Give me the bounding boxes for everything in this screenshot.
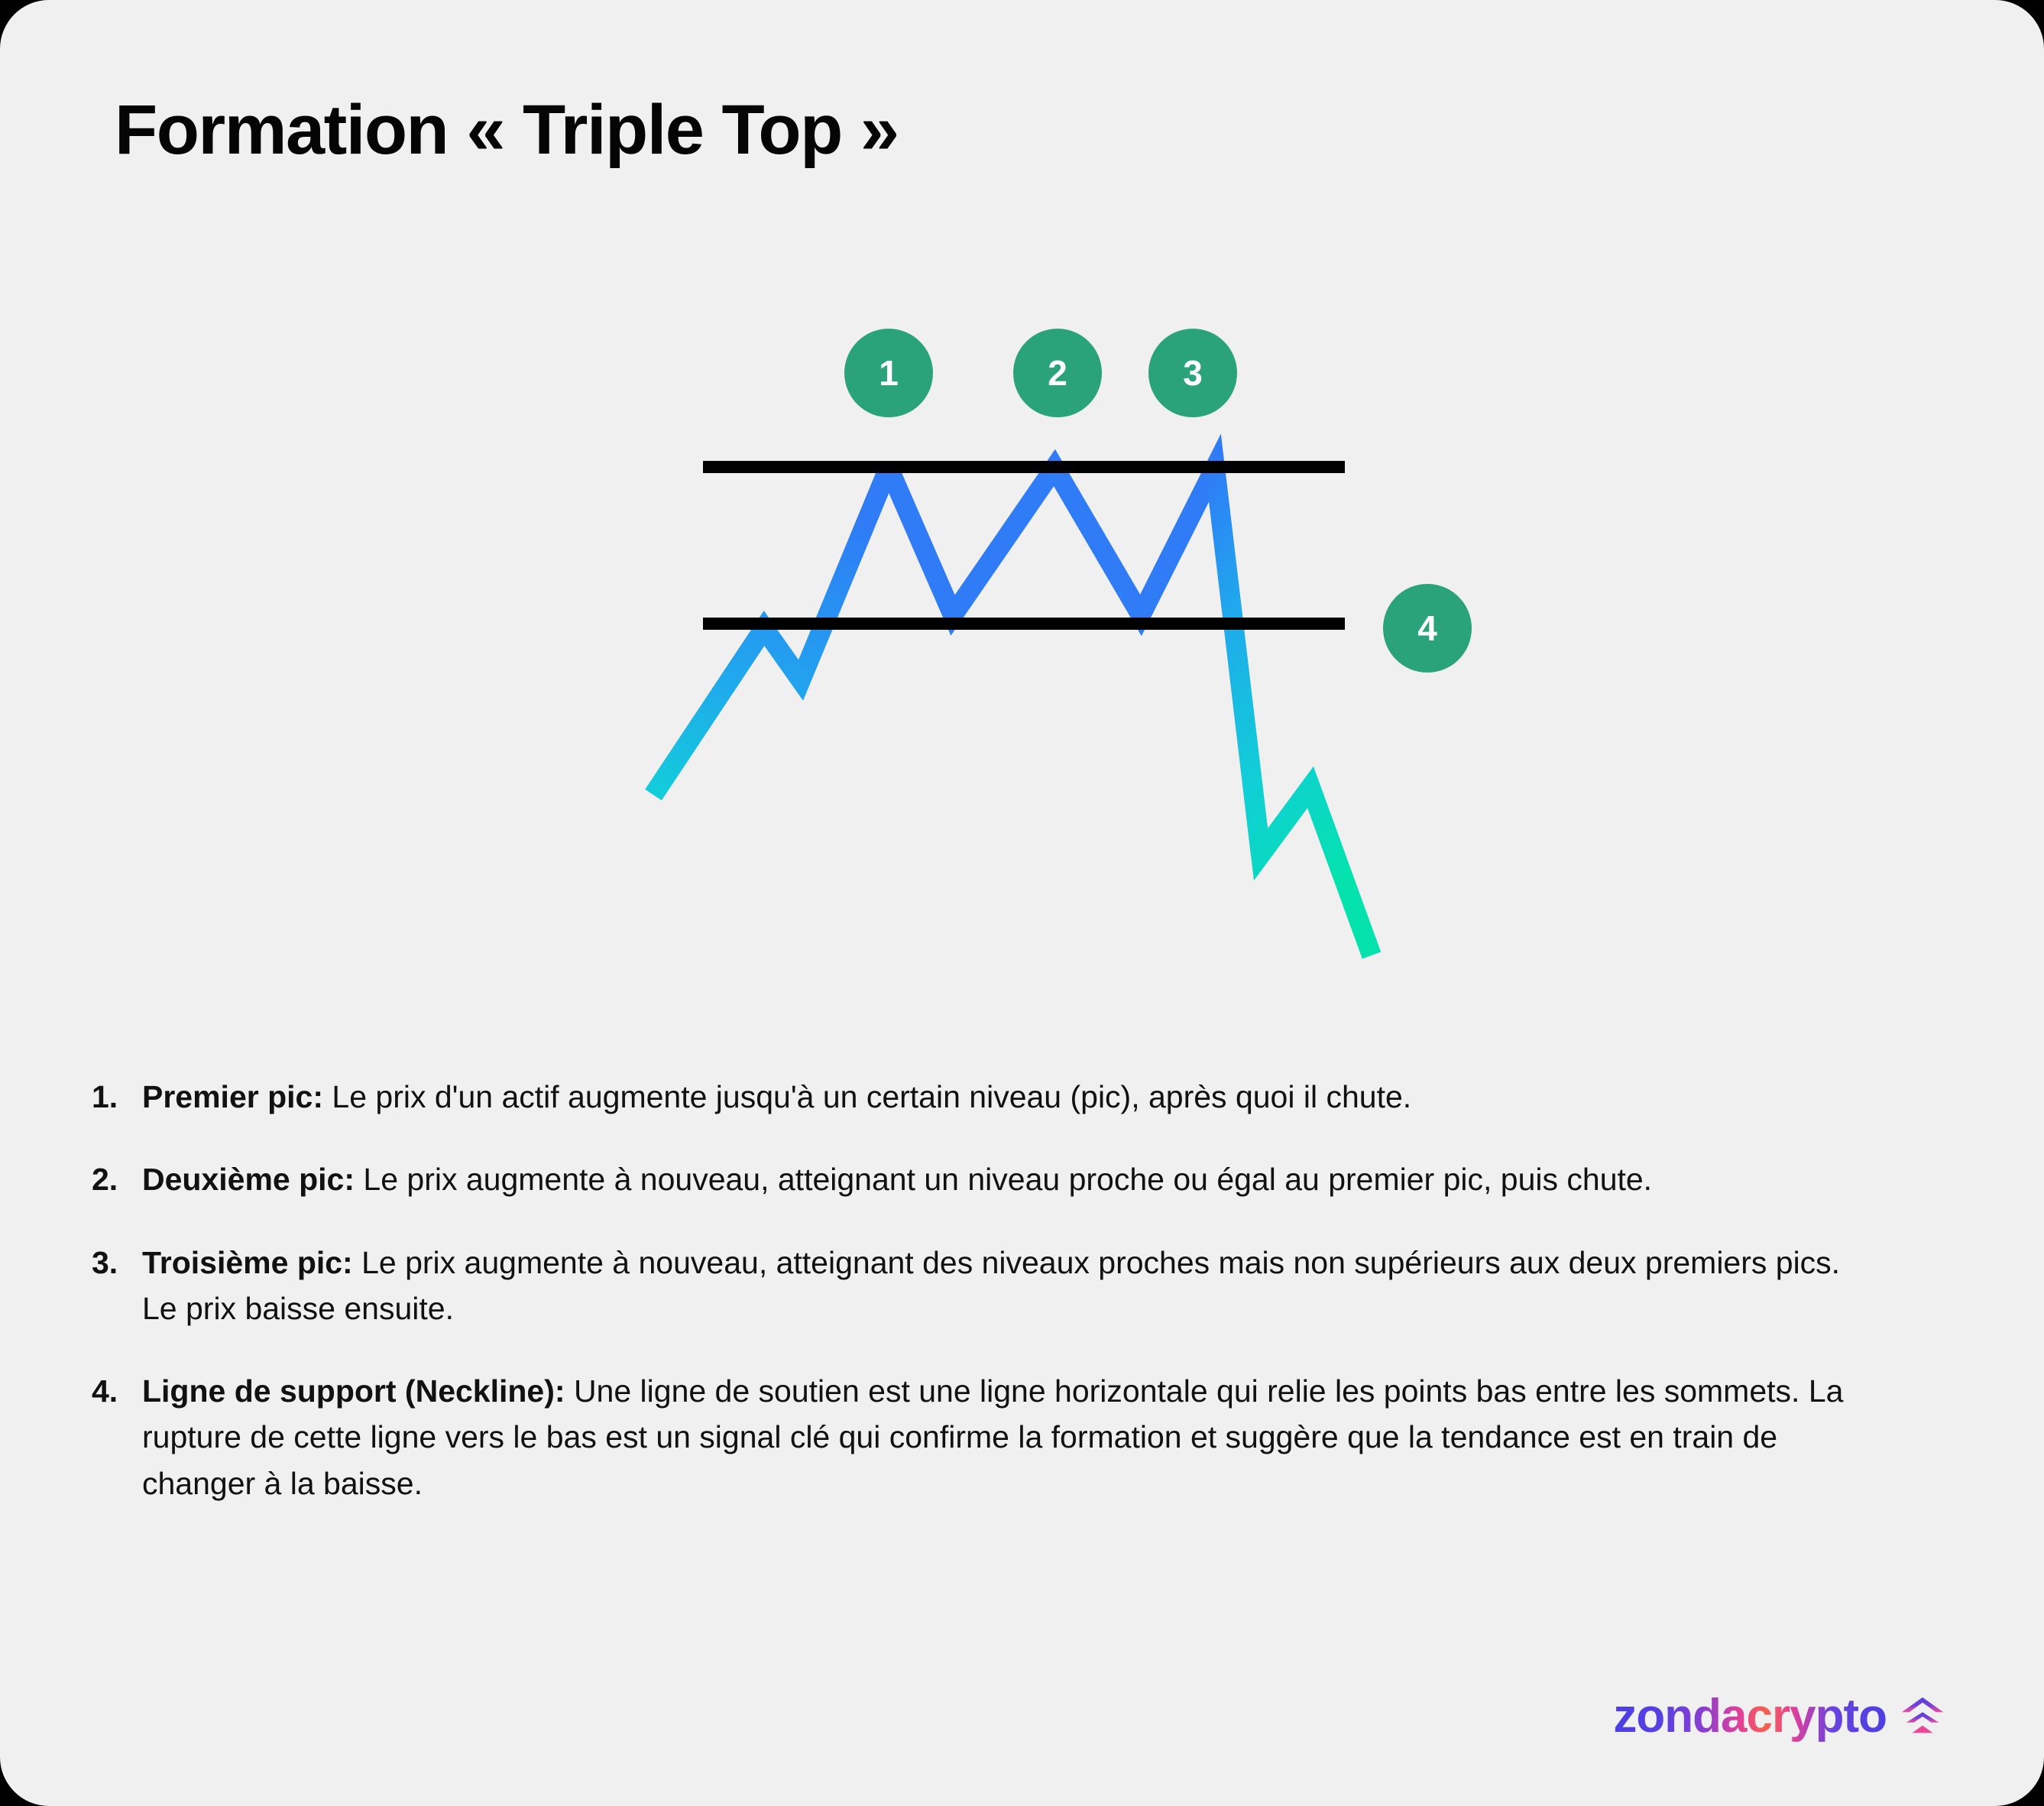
price-line-peaks [889,468,1261,854]
chart-marker-2-label: 2 [1048,355,1067,391]
page-title: Formation « Triple Top » [115,90,899,170]
step-body: Deuxième pic: Le prix augmente à nouveau… [142,1156,1880,1202]
chart-marker-1-label: 1 [879,355,899,391]
step-number: 3. [92,1240,142,1286]
step-body: Premier pic: Le prix d'un actif augmente… [142,1074,1880,1120]
step-number: 2. [92,1156,142,1202]
step-body: Troisième pic: Le prix augmente à nouvea… [142,1240,1880,1332]
step-body: Ligne de support (Neckline): Une ligne d… [142,1368,1880,1506]
step-label: Ligne de support (Neckline): [142,1373,565,1409]
step-label: Deuxième pic: [142,1162,355,1197]
step-label: Premier pic: [142,1079,323,1114]
step-text: Le prix augmente à nouveau, atteignant d… [142,1245,1840,1326]
brand-logo: zondacrypto [1613,1689,1946,1743]
step-label: Troisième pic: [142,1245,353,1280]
step-text: Le prix d'un actif augmente jusqu'à un c… [323,1079,1411,1114]
list-item: 2. Deuxième pic: Le prix augmente à nouv… [92,1156,1880,1202]
chart-marker-1: 1 [844,329,933,417]
step-number: 1. [92,1074,142,1120]
chart-marker-3-label: 3 [1183,355,1203,391]
chart-marker-4: 4 [1383,584,1472,673]
step-text: Le prix augmente à nouveau, atteignant u… [355,1162,1652,1197]
price-line-lead [653,468,889,795]
brand-logo-wordmark: zondacrypto [1613,1689,1887,1743]
chart-marker-2: 2 [1013,329,1102,417]
list-item: 4. Ligne de support (Neckline): Une lign… [92,1368,1880,1506]
infographic-card: Formation « Triple Top » [0,0,2044,1806]
chart-marker-4-label: 4 [1417,611,1437,646]
chart-marker-3: 3 [1148,329,1237,417]
list-item: 3. Troisième pic: Le prix augmente à nou… [92,1240,1880,1332]
list-item: 1. Premier pic: Le prix d'un actif augme… [92,1074,1880,1120]
step-number: 4. [92,1368,142,1414]
steps-list: 1. Premier pic: Le prix d'un actif augme… [92,1074,1880,1506]
stacked-chevron-icon [1899,1693,1946,1740]
triple-top-chart: 1 2 3 4 [0,290,2044,1055]
chart-svg [0,290,2044,1055]
price-line-breakdown [1215,468,1372,955]
